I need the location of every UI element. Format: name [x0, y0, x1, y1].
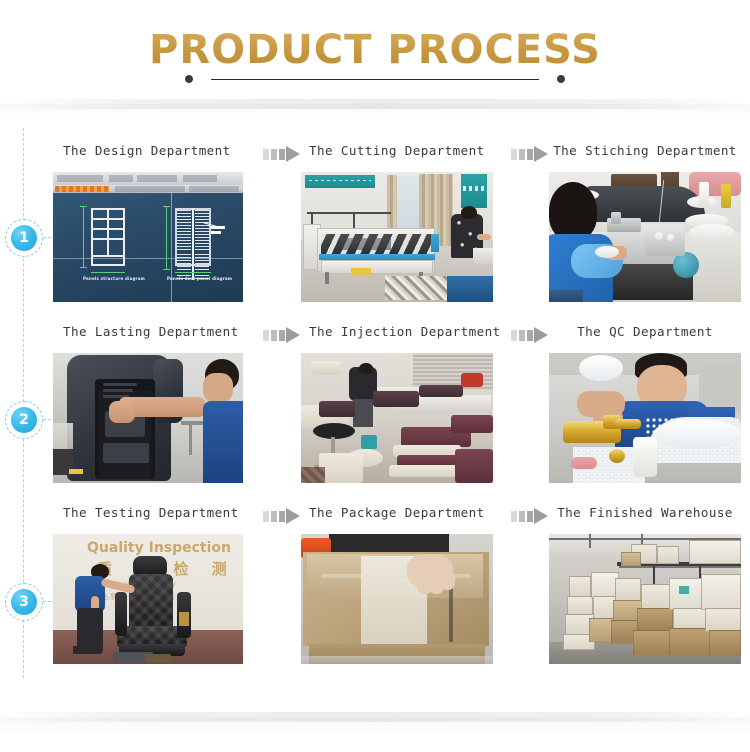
top-divider: [0, 99, 750, 109]
photo-stitching: [549, 172, 741, 302]
photo-package: [301, 534, 493, 664]
process-step-injection: The Injection Department: [301, 319, 493, 483]
testing-wall-heading-en: Quality Inspection: [87, 540, 231, 556]
step-label-injection: The Injection Department: [301, 319, 493, 353]
product-process-page: PRODUCT PROCESS 1 2 3 The Design Departm…: [0, 0, 750, 752]
timeline-marker-1: 1: [5, 219, 43, 257]
step-label-design: The Design Department: [53, 138, 245, 172]
step-label-testing: The Testing Department: [53, 500, 245, 534]
arrow-right-icon: [511, 327, 551, 344]
process-step-lasting: The Lasting Department: [53, 319, 245, 483]
photo-lasting: [53, 353, 243, 483]
process-row-2: The Lasting Department: [53, 319, 743, 500]
process-grid: The Design Department: [53, 138, 743, 681]
photo-qc: [549, 353, 741, 483]
photo-warehouse: [549, 534, 741, 664]
title-rule-bar: [211, 79, 539, 80]
process-step-design: The Design Department: [53, 138, 245, 302]
arrow-right-icon: [511, 146, 551, 163]
marker-number-1: 1: [11, 225, 37, 251]
arrow-right-icon: [263, 508, 303, 525]
step-label-cutting: The Cutting Department: [301, 138, 493, 172]
design-caption-right: Panels dust panel diagram: [167, 276, 232, 281]
step-label-package: The Package Department: [301, 500, 493, 534]
title-dot-left: [185, 75, 193, 83]
arrow-right-icon: [263, 146, 303, 163]
process-step-warehouse: The Finished Warehouse: [549, 500, 741, 664]
title-dot-right: [557, 75, 565, 83]
step-label-qc: The QC Department: [549, 319, 741, 353]
process-step-testing: The Testing Department Quality Inspectio…: [53, 500, 245, 664]
step-label-warehouse: The Finished Warehouse: [549, 500, 741, 534]
marker-number-2: 2: [11, 407, 37, 433]
photo-injection: [301, 353, 493, 483]
process-step-cutting: The Cutting Department: [301, 138, 493, 302]
process-row-3: The Testing Department Quality Inspectio…: [53, 500, 743, 681]
photo-cutting: [301, 172, 493, 302]
step-label-stitching: The Stiching Department: [549, 138, 741, 172]
process-step-stitching: The Stiching Department: [549, 138, 741, 302]
page-title: PRODUCT PROCESS: [0, 26, 750, 74]
timeline-marker-2: 2: [5, 401, 43, 439]
process-row-1: The Design Department: [53, 138, 743, 319]
page-title-block: PRODUCT PROCESS: [0, 26, 750, 74]
photo-testing: Quality Inspection 质 量 检 测 台 Quality fir…: [53, 534, 243, 664]
design-caption-left: Panels structure diagram: [83, 276, 145, 281]
title-underline: [179, 74, 571, 86]
step-label-lasting: The Lasting Department: [53, 319, 245, 353]
process-step-qc: The QC Department: [549, 319, 741, 483]
arrow-right-icon: [511, 508, 551, 525]
timeline-marker-3: 3: [5, 583, 43, 621]
arrow-right-icon: [263, 327, 303, 344]
process-step-package: The Package Department: [301, 500, 493, 664]
bottom-divider: [0, 712, 750, 722]
marker-number-3: 3: [11, 589, 37, 615]
photo-design: Panels structure diagram: [53, 172, 243, 302]
